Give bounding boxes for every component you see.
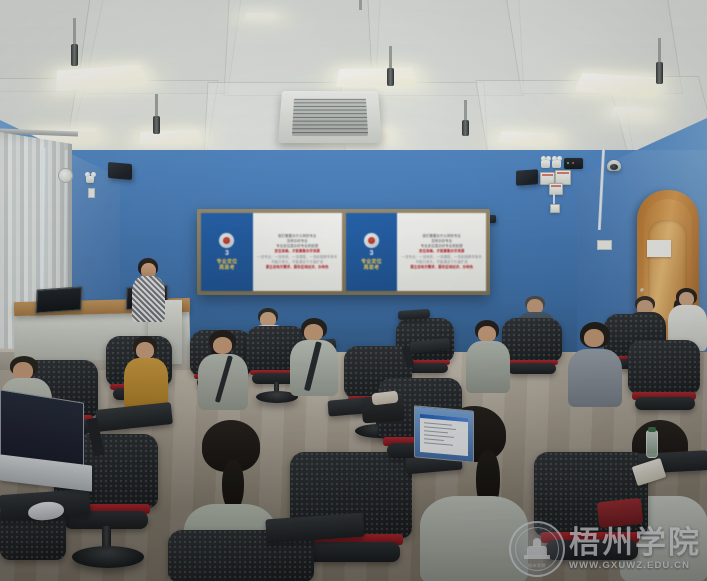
- ceiling-hanger: [464, 100, 467, 122]
- door-notice-sign: [647, 240, 671, 257]
- emergency-light: [541, 160, 550, 168]
- ceiling-hanger: [656, 62, 663, 84]
- ceiling-hanger: [73, 18, 76, 46]
- audience-member: [466, 320, 512, 390]
- water-bottle[interactable]: [646, 430, 658, 458]
- audience-member: [568, 322, 624, 404]
- laptop[interactable]: [414, 408, 478, 470]
- projection-screen-board: 3 专业定位再思考 我们需要办什么样的专业 怎样办好专业 专业定位是办好专业的前…: [197, 209, 490, 295]
- ceiling-hanger: [71, 44, 78, 66]
- ceiling-hanger: [658, 38, 661, 64]
- slide-number: 3: [370, 250, 374, 257]
- wall-plate: [88, 188, 95, 198]
- wall-speaker-right: [516, 169, 538, 186]
- school-emblem-icon: [364, 233, 379, 248]
- slide-badge: 3 专业定位再思考: [201, 213, 253, 291]
- wall-control-panel[interactable]: [564, 158, 583, 169]
- laptop-screen: [414, 405, 474, 462]
- emergency-light: [86, 176, 94, 183]
- ceiling-hanger: [153, 116, 160, 134]
- laptop[interactable]: [0, 396, 100, 502]
- door-handle[interactable]: [640, 288, 645, 293]
- handbag[interactable]: [597, 498, 643, 528]
- ceiling-light: [139, 130, 201, 144]
- slide-body: 我们需要办什么样的专业 怎样办好专业 专业定位是办好专业的前提 定位准确，才能集…: [253, 213, 342, 291]
- slide-right-screen: 3 专业定位再思考 我们需要办什么样的专业 怎样办好专业 专业定位是办好专业的前…: [346, 213, 487, 291]
- slide-badge-text: 专业定位再思考: [217, 259, 238, 271]
- slide-number: 3: [225, 250, 229, 257]
- slide-line-highlight: 要立足地方需求，服务区域经济，办特色: [266, 265, 329, 270]
- wall-outlet[interactable]: [550, 204, 560, 213]
- wall-control-panel[interactable]: [549, 183, 563, 195]
- wall-plate: [597, 240, 612, 250]
- slide-badge: 3 专业定位再思考: [346, 213, 398, 291]
- ceiling-hanger: [462, 120, 469, 136]
- school-emblem-icon: [219, 233, 234, 248]
- presenter-torso: [132, 276, 165, 322]
- ceiling-hanger: [389, 46, 392, 70]
- audience-member: [290, 318, 340, 394]
- ceiling-light: [499, 132, 557, 145]
- wall-clock: [58, 168, 73, 183]
- wall-speaker-left: [108, 162, 132, 180]
- ceiling-hanger: [155, 94, 158, 118]
- audience-member: [198, 330, 250, 408]
- ceiling-air-conditioner: [278, 91, 382, 143]
- ceiling-hanger: [359, 0, 362, 10]
- presenter: [129, 258, 169, 328]
- slide-left-screen: 3 专业定位再思考 我们需要办什么样的专业 怎样办好专业 专业定位是办好专业的前…: [201, 213, 342, 291]
- slide-body: 我们需要办什么样的专业 怎样办好专业 专业定位是办好专业的前提 定位准确，才能集…: [397, 213, 486, 291]
- emergency-light: [552, 160, 561, 168]
- desk-monitor: [35, 286, 82, 313]
- ceiling-hanger: [387, 68, 394, 86]
- audience-member: [124, 336, 170, 408]
- classroom-photo: 3 专业定位再思考 我们需要办什么样的专业 怎样办好专业 专业定位是办好专业的前…: [0, 0, 707, 581]
- slide-line-highlight: 要立足地方需求，服务区域经济，办特色: [410, 265, 473, 270]
- ceiling-light: [336, 68, 416, 86]
- ceiling-light: [246, 13, 277, 19]
- slide-badge-text: 专业定位再思考: [361, 259, 382, 271]
- dome-camera: [607, 160, 621, 171]
